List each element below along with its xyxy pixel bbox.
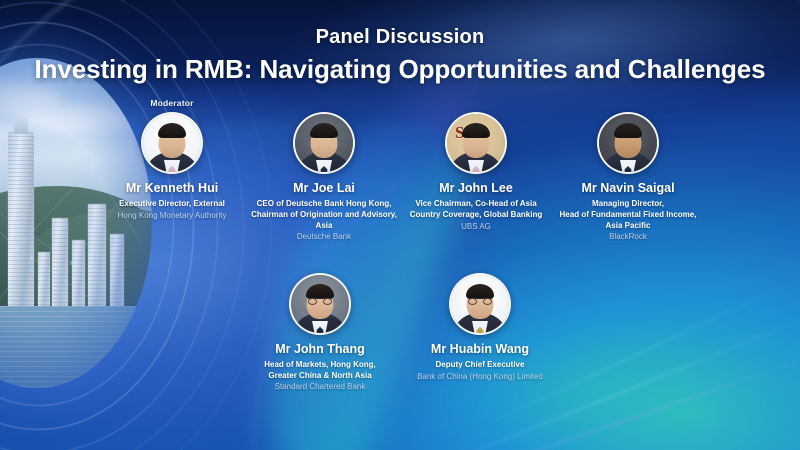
panel-kicker: Panel Discussion bbox=[0, 26, 800, 49]
speaker-card-mr-john-lee: SMr John LeeVice Chairman, Co-Head of As… bbox=[400, 98, 552, 232]
speaker-title: Deputy Chief Executive bbox=[400, 360, 560, 371]
speaker-name: Mr John Lee bbox=[400, 181, 552, 196]
portrait-figure bbox=[295, 114, 353, 172]
speaker-title: Executive Director, External bbox=[96, 199, 248, 210]
speaker-row-2: Mr John ThangHead of Markets, Hong Kong,… bbox=[0, 259, 800, 393]
portrait-hair bbox=[158, 123, 186, 138]
portrait-glasses-icon bbox=[468, 298, 492, 305]
portrait-figure bbox=[143, 114, 201, 172]
speaker-organisation: Bank of China (Hong Kong) Limited bbox=[400, 372, 560, 382]
speaker-organisation: UBS AG bbox=[400, 222, 552, 232]
speaker-card-mr-navin-saigal: Mr Navin SaigalManaging Director,Head of… bbox=[552, 98, 704, 243]
portrait-figure bbox=[599, 114, 657, 172]
portrait-hair bbox=[614, 123, 642, 138]
portrait-hair bbox=[466, 284, 494, 299]
speaker-avatar-mr-john-thang bbox=[289, 273, 351, 335]
title-block: Panel Discussion Investing in RMB: Navig… bbox=[0, 26, 800, 85]
speaker-avatar-mr-huabin-wang bbox=[449, 273, 511, 335]
speaker-card-mr-joe-lai: Mr Joe LaiCEO of Deutsche Bank Hong Kong… bbox=[248, 98, 400, 243]
speaker-role-tag: Moderator bbox=[96, 98, 248, 108]
speaker-title: Head of Markets, Hong Kong,Greater China… bbox=[240, 360, 400, 382]
speaker-grid: ModeratorMr Kenneth HuiExecutive Directo… bbox=[0, 98, 800, 393]
panel-headline: Investing in RMB: Navigating Opportuniti… bbox=[0, 54, 800, 85]
panel-discussion-slide: Panel Discussion Investing in RMB: Navig… bbox=[0, 0, 800, 450]
speaker-card-mr-huabin-wang: Mr Huabin WangDeputy Chief ExecutiveBank… bbox=[400, 259, 560, 382]
speaker-name: Mr Huabin Wang bbox=[400, 342, 560, 357]
speaker-title: Managing Director,Head of Fundamental Fi… bbox=[552, 199, 704, 231]
speaker-avatar-mr-john-lee: S bbox=[445, 112, 507, 174]
speaker-name: Mr Navin Saigal bbox=[552, 181, 704, 196]
speaker-card-mr-kenneth-hui: ModeratorMr Kenneth HuiExecutive Directo… bbox=[96, 98, 248, 221]
speaker-avatar-mr-navin-saigal bbox=[597, 112, 659, 174]
speaker-name: Mr John Thang bbox=[240, 342, 400, 357]
speaker-organisation: Standard Chartered Bank bbox=[240, 382, 400, 392]
portrait-figure bbox=[291, 275, 349, 333]
speaker-title: CEO of Deutsche Bank Hong Kong,Chairman … bbox=[248, 199, 400, 231]
portrait-figure bbox=[447, 114, 505, 172]
portrait-glasses-icon bbox=[308, 298, 332, 305]
speaker-name: Mr Kenneth Hui bbox=[96, 181, 248, 196]
portrait-figure bbox=[451, 275, 509, 333]
speaker-organisation: Hong Kong Monetary Authority bbox=[96, 211, 248, 221]
speaker-card-mr-john-thang: Mr John ThangHead of Markets, Hong Kong,… bbox=[240, 259, 400, 393]
speaker-organisation: BlackRock bbox=[552, 232, 704, 242]
speaker-row-1: ModeratorMr Kenneth HuiExecutive Directo… bbox=[0, 98, 800, 243]
speaker-avatar-mr-joe-lai bbox=[293, 112, 355, 174]
speaker-title: Vice Chairman, Co-Head of AsiaCountry Co… bbox=[400, 199, 552, 221]
speaker-name: Mr Joe Lai bbox=[248, 181, 400, 196]
speaker-organisation: Deutsche Bank bbox=[248, 232, 400, 242]
speaker-avatar-mr-kenneth-hui bbox=[141, 112, 203, 174]
portrait-hair bbox=[306, 284, 334, 299]
portrait-hair bbox=[462, 123, 490, 138]
portrait-hair bbox=[310, 123, 338, 138]
